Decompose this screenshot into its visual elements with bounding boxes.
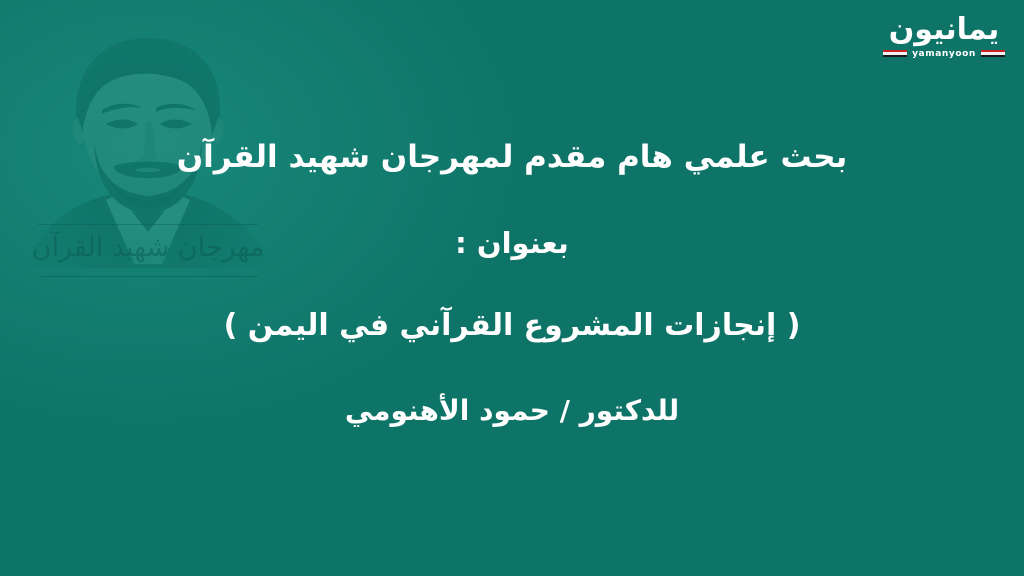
slide-canvas: مهرجان شهيد القرآن يمانيون yamanyoon بحث… [0, 0, 1024, 576]
brand-subline: yamanyoon [882, 49, 1006, 59]
yemen-flag-icon-right [883, 50, 907, 58]
yemen-flag-icon-left [981, 50, 1005, 58]
entitled-label: بعنوان : [40, 225, 984, 261]
research-author: للدكتور / حمود الأهنومي [40, 393, 984, 428]
brand-name-arabic: يمانيون [882, 14, 1006, 46]
research-headline: بحث علمي هام مقدم لمهرجان شهيد القرآن [40, 138, 984, 177]
research-subject: ( إنجازات المشروع القرآني في اليمن ) [40, 307, 984, 345]
content-block: بحث علمي هام مقدم لمهرجان شهيد القرآن بع… [0, 138, 1024, 428]
brand-name-latin: yamanyoon [912, 49, 976, 59]
brand-logo[interactable]: يمانيون yamanyoon [882, 14, 1006, 59]
